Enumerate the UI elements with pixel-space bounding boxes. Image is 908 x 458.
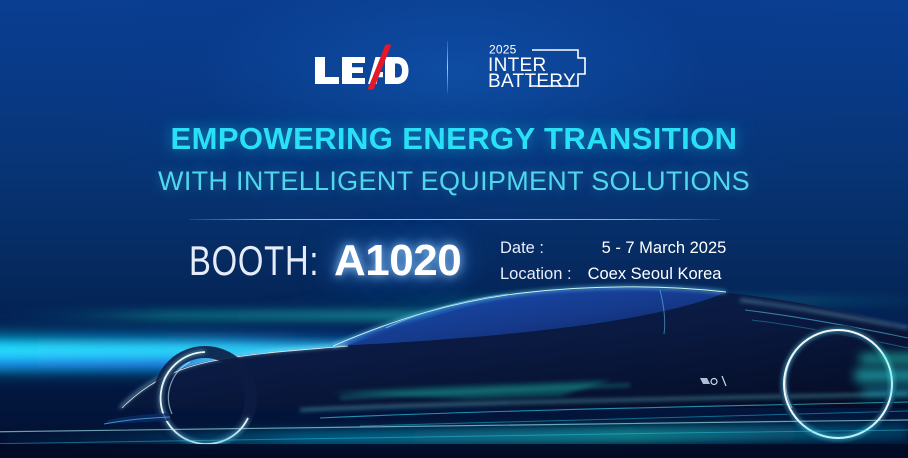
interbattery-logo: 2025 INTER BATTERY xyxy=(486,41,596,93)
lead-logo xyxy=(313,43,409,91)
headline: EMPOWERING ENERGY TRANSITION xyxy=(0,122,908,157)
svg-text:BATTERY: BATTERY xyxy=(488,71,576,92)
date-value: 5 - 7 March 2025 xyxy=(588,239,727,258)
date-label: Date : xyxy=(500,239,544,258)
event-banner: 2025 INTER BATTERY EMPOWERING ENERGY TRA… xyxy=(0,0,908,458)
car-scene xyxy=(0,258,908,458)
section-divider xyxy=(189,219,720,220)
hero-text-block: EMPOWERING ENERGY TRANSITION WITH INTELL… xyxy=(0,122,908,196)
logo-separator xyxy=(447,41,448,93)
subheadline: WITH INTELLIGENT EQUIPMENT SOLUTIONS xyxy=(0,166,908,196)
logo-row: 2025 INTER BATTERY xyxy=(0,41,908,93)
